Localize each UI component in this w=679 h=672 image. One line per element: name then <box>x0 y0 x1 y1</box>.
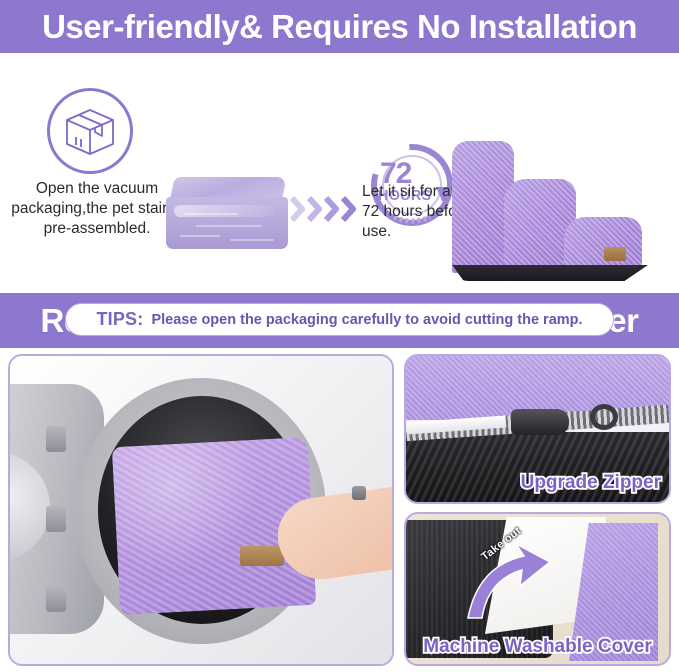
tips-text: Please open the packaging carefully to a… <box>151 312 582 328</box>
chevron-right-icon <box>307 196 322 222</box>
tips-callout: TIPS: Please open the packaging carefull… <box>65 303 614 336</box>
section-divider <box>0 343 679 346</box>
washer-hinge <box>46 506 66 532</box>
pack-highlight <box>174 205 274 217</box>
take-out-arrow-icon <box>462 532 580 624</box>
banner-one-text: User-friendly& Requires No Installation <box>42 8 637 46</box>
zipper-caption: Upgrade Zipper <box>521 472 661 494</box>
cover-brand-tag <box>240 546 284 566</box>
tips-label: TIPS: <box>96 309 143 330</box>
vacuum-packed-product-image <box>166 177 288 249</box>
pack-wrinkle <box>230 239 274 241</box>
removable-cover-photo: Take out Machine Washable Cover <box>404 512 671 666</box>
photo-gallery-section: Upgrade Zipper Take out Machine Washable… <box>0 348 679 672</box>
instructions-section: Open the vacuum packaging,the pet stair … <box>0 53 679 293</box>
pack-wrinkle <box>180 235 220 237</box>
pet-stairs-product-image <box>452 135 658 291</box>
stair-base-shadow <box>452 265 648 281</box>
washer-hinge <box>46 586 66 612</box>
progress-chevrons <box>290 196 356 222</box>
chevron-right-icon <box>341 196 356 222</box>
zipper-closeup-photo: Upgrade Zipper <box>404 354 671 504</box>
chevron-right-icon <box>324 196 339 222</box>
cover-caption: Machine Washable Cover <box>423 636 651 658</box>
washing-machine-photo <box>8 354 394 666</box>
package-box-icon <box>47 88 133 174</box>
pack-wrinkle <box>184 213 238 215</box>
washer-latch <box>352 486 366 500</box>
chevron-right-icon <box>290 196 305 222</box>
headline-banner-installation: User-friendly& Requires No Installation <box>0 0 679 53</box>
pack-wrinkle <box>196 225 262 227</box>
zipper-slider <box>511 409 569 435</box>
stair-step-bottom <box>564 217 642 273</box>
brand-tag <box>604 247 626 261</box>
washer-hinge <box>46 426 66 452</box>
step-one-caption: Open the vacuum packaging,the pet stair … <box>8 179 186 238</box>
